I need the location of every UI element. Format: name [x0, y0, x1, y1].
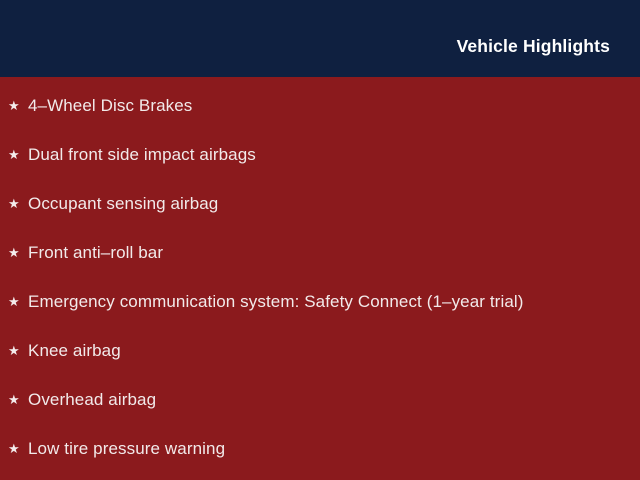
- star-bullet-icon: ★: [8, 148, 28, 161]
- star-bullet-icon: ★: [8, 393, 28, 406]
- list-item: ★ Front anti–roll bar: [8, 241, 636, 265]
- page-title: Vehicle Highlights: [457, 38, 610, 56]
- list-item: ★ Low tire pressure warning: [8, 437, 636, 461]
- list-item-label: Dual front side impact airbags: [28, 145, 256, 165]
- list-item: ★ Dual front side impact airbags: [8, 143, 636, 167]
- list-item-label: Front anti–roll bar: [28, 243, 163, 263]
- star-bullet-icon: ★: [8, 442, 28, 455]
- star-bullet-icon: ★: [8, 197, 28, 210]
- list-item-label: Overhead airbag: [28, 390, 156, 410]
- list-item-label: Emergency communication system: Safety C…: [28, 292, 524, 312]
- list-item: ★ Overhead airbag: [8, 388, 636, 412]
- star-bullet-icon: ★: [8, 246, 28, 259]
- list-item-label: 4–Wheel Disc Brakes: [28, 96, 192, 116]
- list-item: ★ Knee airbag: [8, 339, 636, 363]
- list-item-label: Knee airbag: [28, 341, 121, 361]
- vehicle-highlights-list: ★ 4–Wheel Disc Brakes ★ Dual front side …: [0, 77, 640, 480]
- list-item: ★ 4–Wheel Disc Brakes: [8, 94, 636, 118]
- header-band: Vehicle Highlights: [0, 0, 640, 77]
- star-bullet-icon: ★: [8, 344, 28, 357]
- list-item: ★ Emergency communication system: Safety…: [8, 290, 636, 314]
- star-bullet-icon: ★: [8, 99, 28, 112]
- list-item-label: Occupant sensing airbag: [28, 194, 218, 214]
- list-item-label: Low tire pressure warning: [28, 439, 225, 459]
- list-item: ★ Occupant sensing airbag: [8, 192, 636, 216]
- vehicle-highlights-slide: Vehicle Highlights ★ 4–Wheel Disc Brakes…: [0, 0, 640, 480]
- star-bullet-icon: ★: [8, 295, 28, 308]
